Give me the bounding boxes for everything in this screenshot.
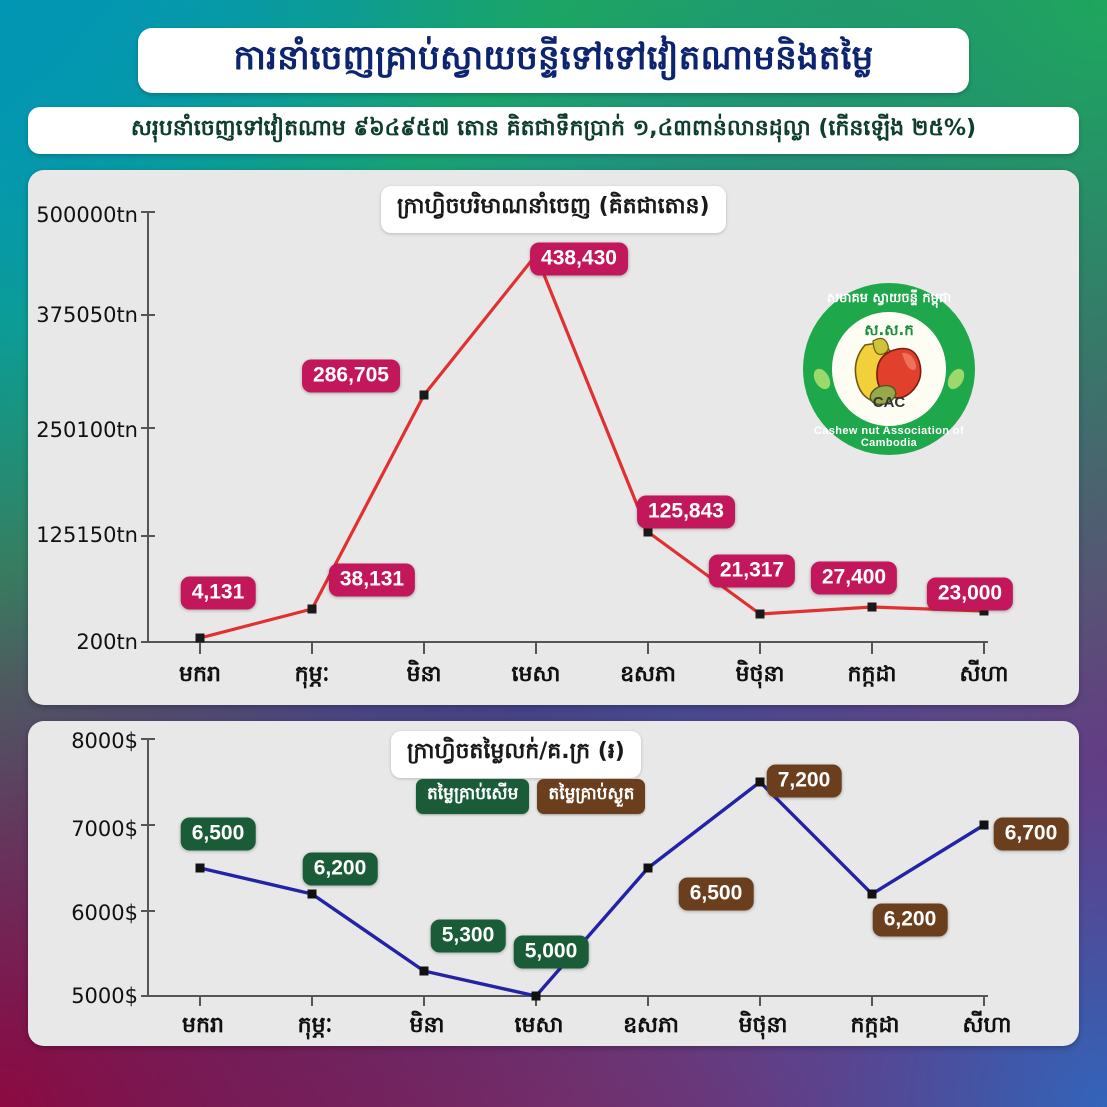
logo-english-text: Cashew nut Association of Cambodia bbox=[803, 425, 975, 449]
chart2-xtick-1: កុម្ភៈ bbox=[298, 1011, 333, 1043]
chart1-point-label-3: 438,430 bbox=[530, 243, 628, 276]
chart2-xtick-5: មិថុនា bbox=[739, 1011, 788, 1043]
chart2-xtick-6: កក្កដា bbox=[851, 1011, 900, 1043]
subtitle-banner: សរុបនាំចេញទៅវៀតណាម ៩៦៤៩៥៧ តោន គិតជាទឹកប្… bbox=[28, 107, 1079, 155]
chart2-xtick-2: មិនា bbox=[410, 1011, 445, 1043]
logo-abbrev-text: CAC bbox=[803, 394, 975, 411]
chart2-point-label-7: 6,700 bbox=[994, 818, 1069, 851]
chart1-point-label-0: 4,131 bbox=[181, 577, 256, 610]
chart-card-price: ក្រាហ្វិចតម្លៃលក់/គ.ក្រ (៛) តម្លៃគ្រាប់ស… bbox=[28, 721, 1079, 1046]
chart2-point-label-2: 5,300 bbox=[431, 920, 506, 953]
page-subtitle: សរុបនាំចេញទៅវៀតណាម ៩៦៤៩៥៧ តោន គិតជាទឹកប្… bbox=[44, 115, 1063, 144]
chart1-point-label-6: 27,400 bbox=[811, 562, 897, 595]
chart2-point-label-1: 6,200 bbox=[303, 853, 378, 886]
chart2-point-label-6: 6,200 bbox=[873, 904, 948, 937]
chart1-point-label-2: 286,705 bbox=[302, 360, 400, 393]
chart1-xtick-2: មិនា bbox=[407, 660, 442, 692]
chart1-xtick-3: មេសា bbox=[512, 660, 561, 692]
chart1-xtick-7: សីហា bbox=[960, 660, 1009, 692]
chart1-point-label-1: 38,131 bbox=[329, 564, 415, 597]
chart1-xtick-6: កក្កដា bbox=[848, 660, 897, 692]
chart2-point-label-4: 6,500 bbox=[679, 878, 754, 911]
cac-logo: សមាគម ស្វាយចន្ទី កម្ពុជា ស.ស.ក CAC Cashe… bbox=[803, 283, 975, 455]
chart-card-export-volume: ក្រាហ្វិចបរិមាណនាំចេញ (គិតជាតោន) 500000t… bbox=[28, 170, 1079, 705]
chart1-point-label-7: 23,000 bbox=[927, 578, 1013, 611]
chart1-point-label-4: 125,843 bbox=[637, 496, 735, 529]
chart2-xtick-0: មករា bbox=[182, 1011, 224, 1043]
infographic-page: ការនាំចេញគ្រាប់ស្វាយចន្ទីទៅទៅវៀតណាមនិងតម… bbox=[0, 0, 1107, 1107]
chart2-xtick-4: ឧសភា bbox=[623, 1011, 679, 1043]
chart2-point-label-3: 5,000 bbox=[514, 936, 589, 969]
chart1-xtick-1: កុម្ភៈ bbox=[295, 660, 330, 692]
title-banner: ការនាំចេញគ្រាប់ស្វាយចន្ទីទៅទៅវៀតណាមនិងតម… bbox=[138, 28, 969, 93]
chart2-point-label-0: 6,500 bbox=[181, 818, 256, 851]
page-title: ការនាំចេញគ្រាប់ស្វាយចន្ទីទៅទៅវៀតណាមនិងតម… bbox=[156, 37, 951, 80]
chart1-xtick-5: មិថុនា bbox=[736, 660, 785, 692]
chart1-xtick-4: ឧសភា bbox=[620, 660, 676, 692]
chart2-xtick-3: មេសា bbox=[515, 1011, 564, 1043]
chart1-point-label-5: 21,317 bbox=[709, 555, 795, 588]
chart2-plot bbox=[28, 721, 1059, 1046]
chart2-xtick-7: សីហា bbox=[963, 1011, 1012, 1043]
chart2-point-label-5: 7,200 bbox=[767, 765, 842, 798]
chart1-xtick-0: មករា bbox=[179, 660, 221, 692]
